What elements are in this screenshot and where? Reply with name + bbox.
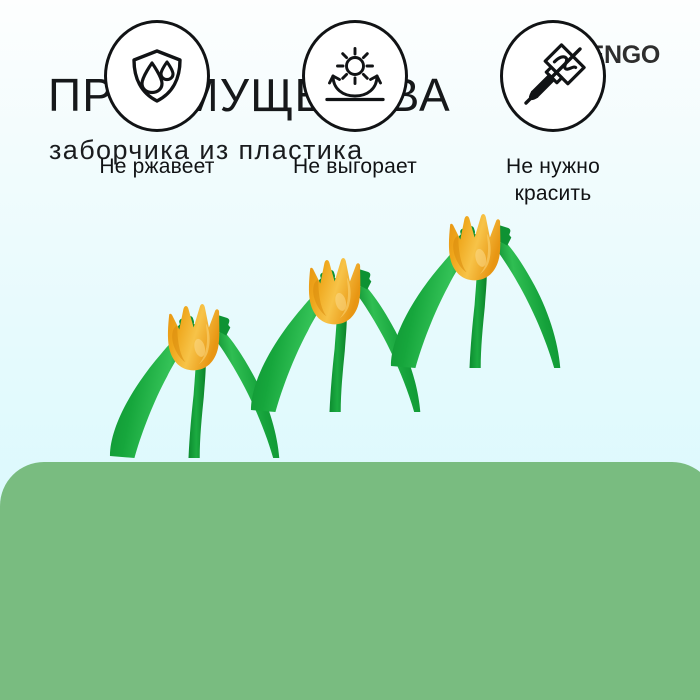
promo-poster: GREENGO ПРЕИМУЩЕСТВА заборчика из пласти… (0, 0, 700, 700)
benefit-item-no-fading: Не выгорает (270, 0, 440, 250)
benefit-label: Не нужно красить (493, 154, 613, 208)
benefit-item-no-painting: Не нужно красить (468, 0, 638, 250)
benefit-label: Не выгорает (293, 154, 417, 181)
benefit-item-no-rust: Не ржавеет (72, 0, 242, 250)
benefit-label: Не ржавеет (99, 154, 214, 181)
shield-waterdrop-icon (104, 20, 210, 132)
no-paintbrush-icon (500, 20, 606, 132)
benefits-list: Не ржавеет (0, 0, 700, 250)
sun-uv-reflect-icon (302, 20, 408, 132)
benefits-panel (0, 462, 700, 700)
